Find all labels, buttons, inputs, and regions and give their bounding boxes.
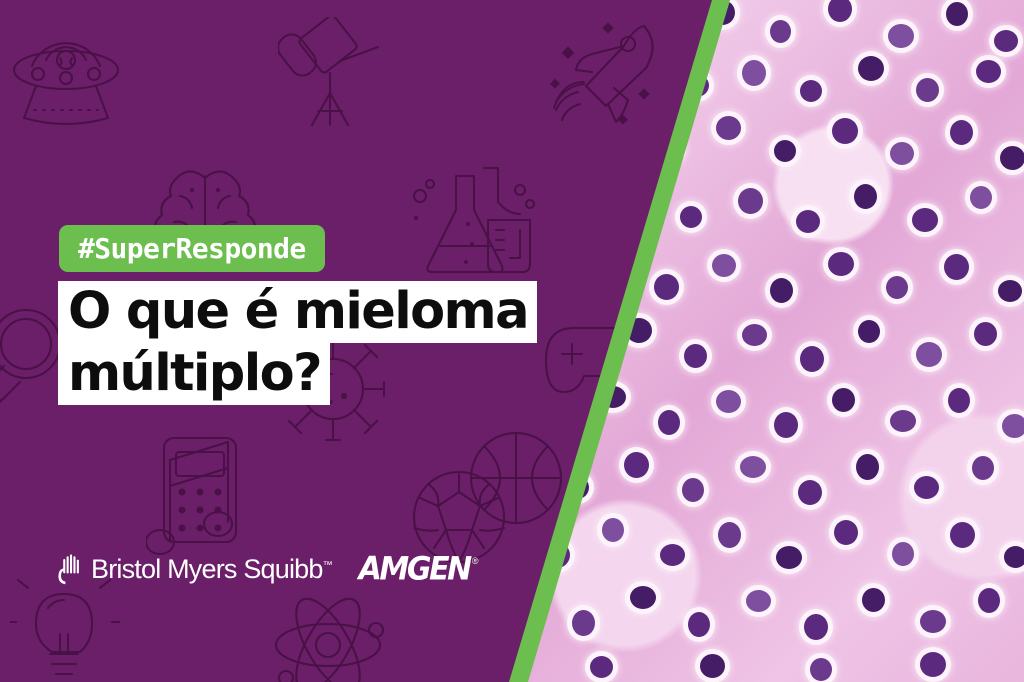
- social-card: #SuperResponde O que é mieloma múltiplo?: [0, 0, 1024, 682]
- hashtag-badge: #SuperResponde: [59, 225, 325, 272]
- page-title: O que é mieloma múltiplo?: [58, 281, 537, 405]
- card-content: #SuperResponde O que é mieloma múltiplo?: [0, 0, 560, 682]
- rocket-icon: [548, 18, 668, 128]
- amgen-logo: AMGEN ®: [359, 552, 479, 587]
- bms-trademark: ™: [323, 560, 333, 571]
- bms-wordmark: Bristol Myers Squibb™: [91, 554, 333, 585]
- bms-hand-flame-icon: [57, 554, 82, 585]
- amgen-registered-mark: ®: [472, 556, 479, 566]
- amgen-wordmark: AMGEN: [359, 551, 470, 588]
- hashtag-label: #SuperResponde: [78, 232, 306, 265]
- bms-name: Bristol Myers Squibb: [91, 554, 323, 584]
- page-title-line-1: O que é mieloma: [58, 281, 537, 343]
- bristol-myers-squibb-logo: Bristol Myers Squibb™: [57, 554, 333, 585]
- sponsor-logos: Bristol Myers Squibb™ AMGEN ®: [57, 552, 479, 587]
- page-title-line-2: múltiplo?: [58, 343, 330, 405]
